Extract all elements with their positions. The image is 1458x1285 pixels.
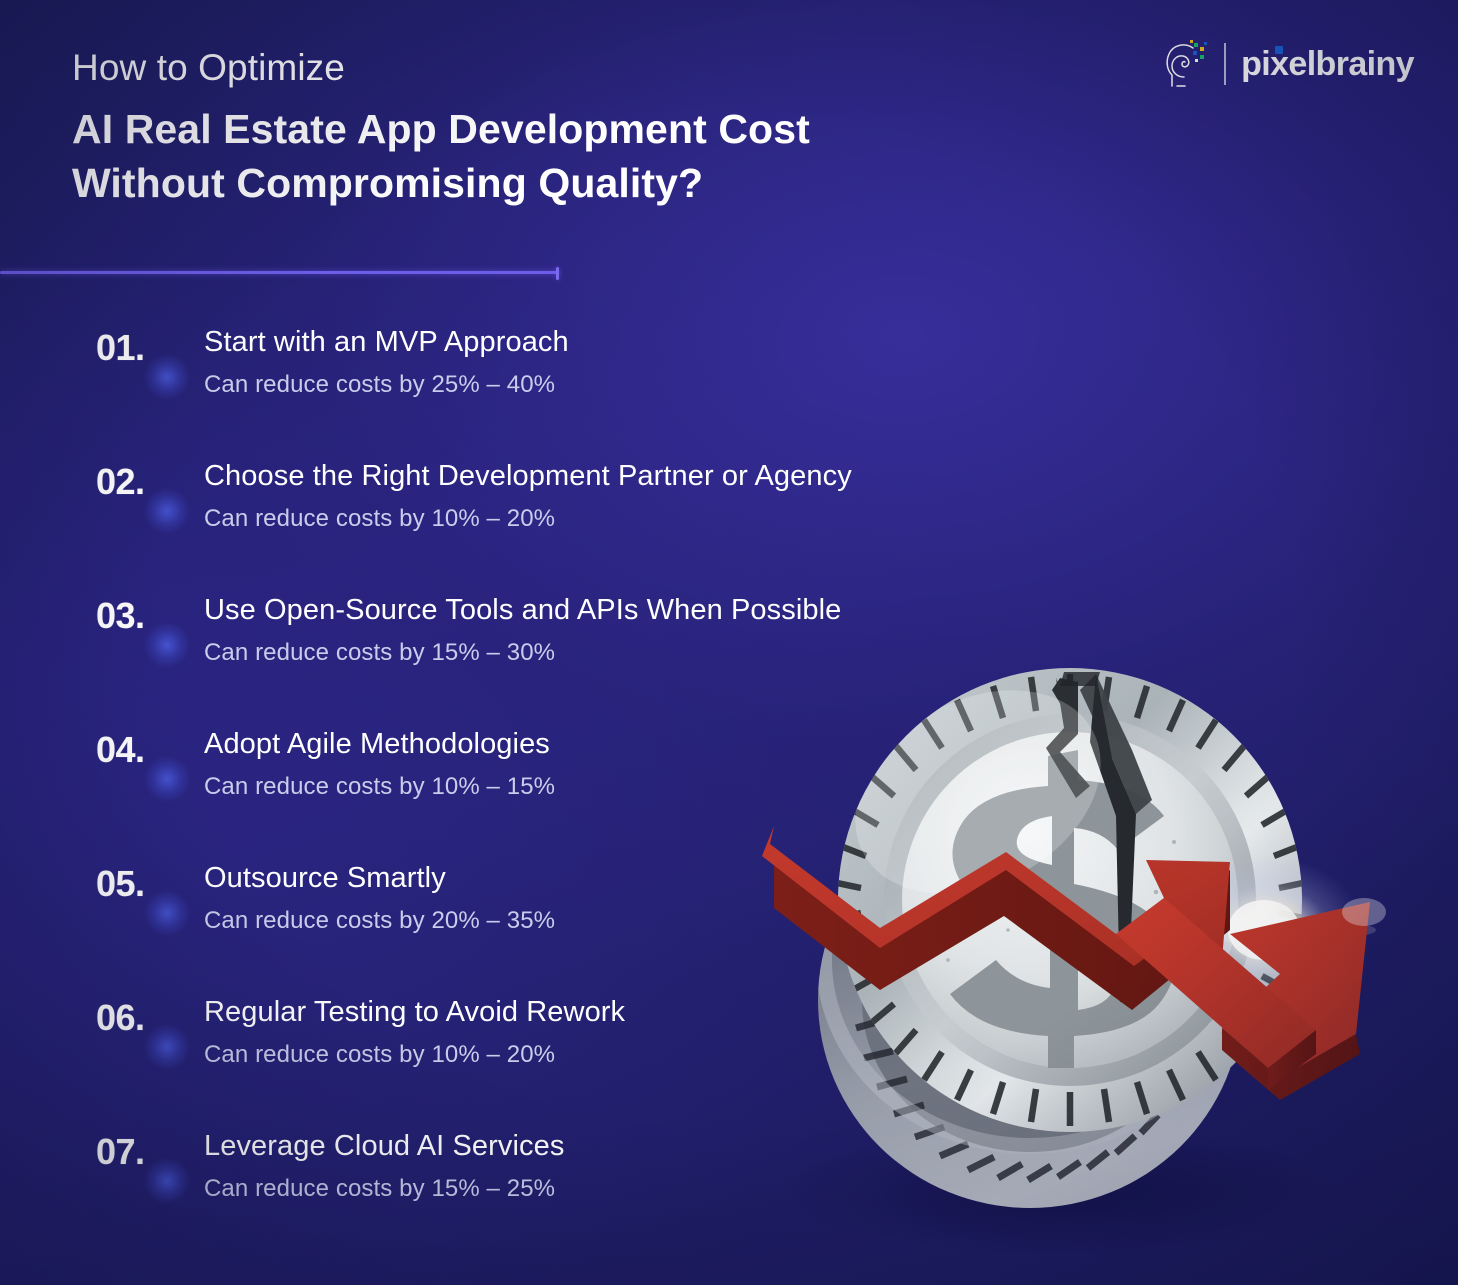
list-item-title: Leverage Cloud AI Services <box>204 1128 564 1164</box>
number-glow <box>144 622 190 668</box>
list-item-subtitle: Can reduce costs by 25% – 40% <box>204 370 569 400</box>
list-item[interactable]: 06. Regular Testing to Avoid Rework Can … <box>96 998 1056 1132</box>
list-item-number: 01. <box>96 328 145 368</box>
list-item[interactable]: 07. Leverage Cloud AI Services Can reduc… <box>96 1132 1056 1266</box>
number-glow <box>144 1158 190 1204</box>
page-title-line-1: AI Real Estate App Development Cost <box>72 102 1072 156</box>
list-item-body: Leverage Cloud AI Services Can reduce co… <box>204 1128 564 1204</box>
list-item-title: Start with an MVP Approach <box>204 324 569 360</box>
divider-line <box>0 271 558 274</box>
brand-wordmark-text: pixelbrainy <box>1241 45 1414 83</box>
list-item-title: Regular Testing to Avoid Rework <box>204 994 625 1030</box>
brain-head-icon <box>1163 38 1209 90</box>
list-item-body: Adopt Agile Methodologies Can reduce cos… <box>204 726 555 802</box>
brand-wordmark: pixelbrainy <box>1241 47 1414 81</box>
list-item-number: 02. <box>96 462 145 502</box>
list-item-subtitle: Can reduce costs by 10% – 15% <box>204 772 555 802</box>
list-item-body: Choose the Right Development Partner or … <box>204 458 852 534</box>
number-glow <box>144 354 190 400</box>
number-glow <box>144 890 190 936</box>
list-item[interactable]: 03. Use Open-Source Tools and APIs When … <box>96 596 1056 730</box>
kicker-text: How to Optimize <box>72 46 1072 90</box>
list-item-title: Use Open-Source Tools and APIs When Poss… <box>204 592 841 628</box>
list-item-subtitle: Can reduce costs by 10% – 20% <box>204 504 852 534</box>
list-item-body: Outsource Smartly Can reduce costs by 20… <box>204 860 555 936</box>
list-item-number: 07. <box>96 1132 145 1172</box>
list-item-title: Adopt Agile Methodologies <box>204 726 555 762</box>
list-item-subtitle: Can reduce costs by 15% – 25% <box>204 1174 564 1204</box>
list-item[interactable]: 04. Adopt Agile Methodologies Can reduce… <box>96 730 1056 864</box>
header-divider <box>0 267 566 277</box>
list-item-number: 03. <box>96 596 145 636</box>
page-title: AI Real Estate App Development Cost With… <box>72 102 1072 210</box>
list-item-title: Outsource Smartly <box>204 860 555 896</box>
number-glow <box>144 1024 190 1070</box>
tips-list: 01. Start with an MVP Approach Can reduc… <box>96 328 1056 1266</box>
page-title-line-2: Without Compromising Quality? <box>72 156 1072 210</box>
number-glow <box>144 488 190 534</box>
list-item-subtitle: Can reduce costs by 15% – 30% <box>204 638 841 668</box>
brand-logo[interactable]: pixelbrainy <box>1163 38 1414 90</box>
list-item-body: Start with an MVP Approach Can reduce co… <box>204 324 569 400</box>
list-item-title: Choose the Right Development Partner or … <box>204 458 852 494</box>
number-glow <box>144 756 190 802</box>
header-block: How to Optimize AI Real Estate App Devel… <box>72 46 1072 210</box>
list-item-number: 06. <box>96 998 145 1038</box>
list-item[interactable]: 02. Choose the Right Development Partner… <box>96 462 1056 596</box>
infographic-canvas: pixelbrainy How to Optimize AI Real Esta… <box>0 0 1458 1285</box>
list-item-number: 05. <box>96 864 145 904</box>
list-item-body: Use Open-Source Tools and APIs When Poss… <box>204 592 841 668</box>
list-item[interactable]: 05. Outsource Smartly Can reduce costs b… <box>96 864 1056 998</box>
divider-end-tick <box>556 267 559 280</box>
vertical-divider-icon <box>1224 43 1226 85</box>
list-item-subtitle: Can reduce costs by 20% – 35% <box>204 906 555 936</box>
x-accent-square-icon <box>1275 46 1283 54</box>
list-item[interactable]: 01. Start with an MVP Approach Can reduc… <box>96 328 1056 462</box>
light-flare-icon <box>1152 856 1376 1004</box>
list-item-number: 04. <box>96 730 145 770</box>
list-item-subtitle: Can reduce costs by 10% – 20% <box>204 1040 625 1070</box>
list-item-body: Regular Testing to Avoid Rework Can redu… <box>204 994 625 1070</box>
coin-crack <box>1046 672 1152 1002</box>
